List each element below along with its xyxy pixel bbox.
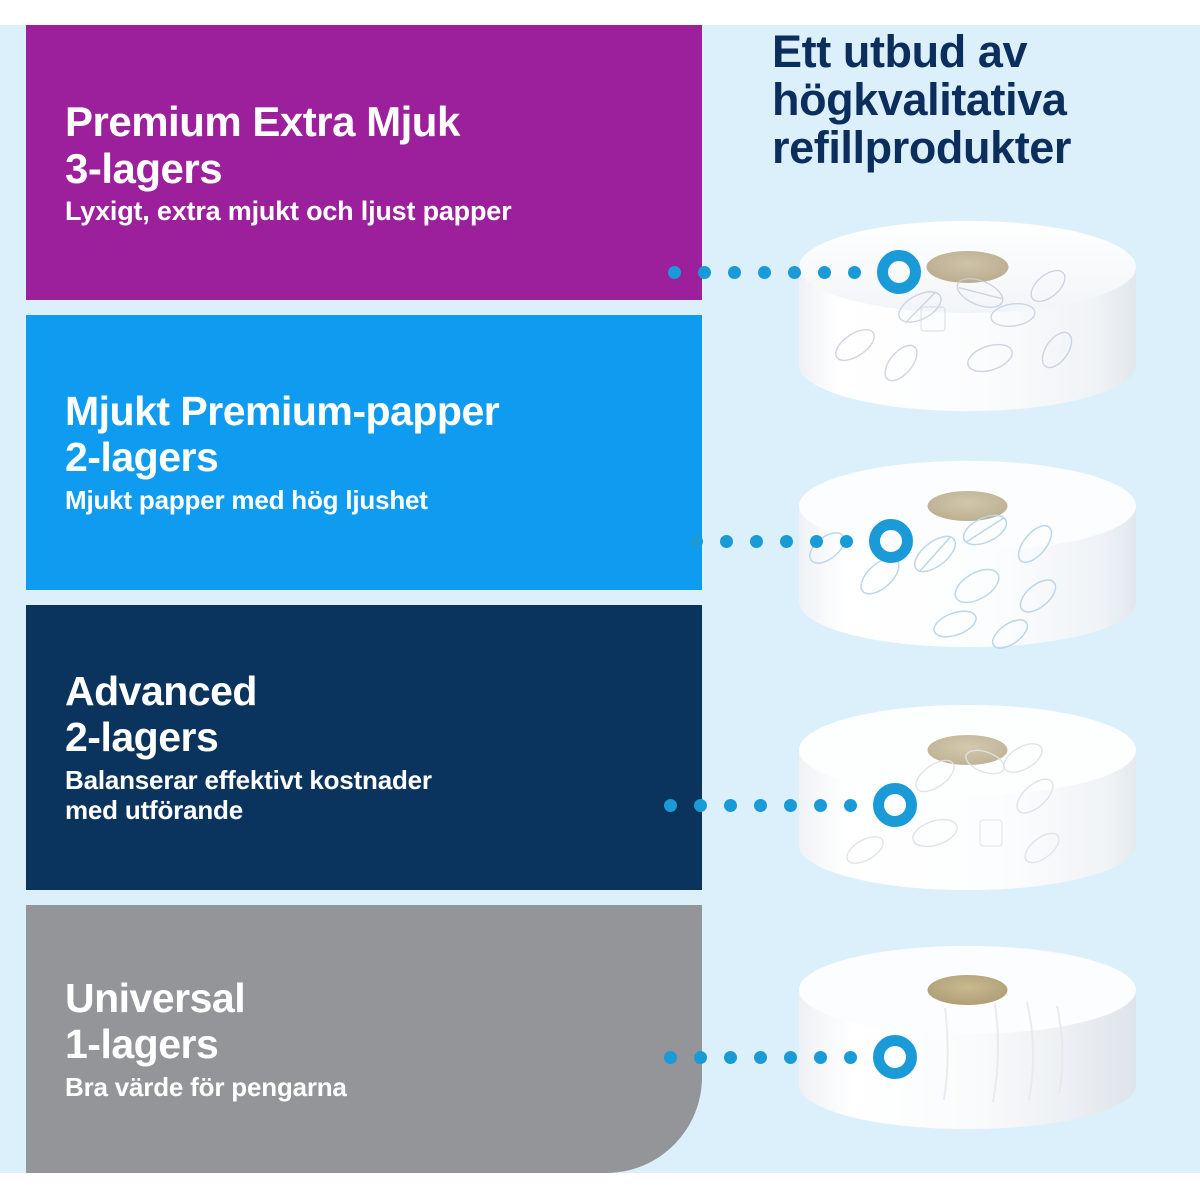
tier-subtitle: Bra värde för pengarna <box>65 1072 702 1103</box>
tier-title-line-2: 2-lagers <box>65 715 702 761</box>
connector-dot <box>754 1051 767 1064</box>
connector-dot <box>750 535 763 548</box>
connector-row-2 <box>690 518 913 564</box>
connector-dot <box>840 535 853 548</box>
connector-dot <box>668 266 681 279</box>
dotted-line-icon <box>690 535 853 548</box>
page-title-line-3: refillprodukter <box>772 124 1187 172</box>
tier-card-premium-extra-mjuk[interactable]: Premium Extra Mjuk 3-lagers Lyxigt, extr… <box>26 25 702 300</box>
connector-dot <box>848 266 861 279</box>
connector-row-3 <box>664 782 917 828</box>
tier-title: Premium Extra Mjuk 3-lagers <box>65 98 702 192</box>
tier-title-line-1: Mjukt Premium-papper <box>65 388 499 434</box>
tier-title-line-2: 2-lagers <box>65 435 702 481</box>
connector-dot <box>690 535 703 548</box>
dotted-line-icon <box>668 266 861 279</box>
connector-dot <box>818 266 831 279</box>
tier-card-advanced[interactable]: Advanced 2-lagers Balanserar effektivt k… <box>26 605 702 890</box>
page-title-line-1: Ett utbud av <box>772 28 1187 76</box>
tier-title-line-1: Universal <box>65 975 245 1021</box>
connector-dot <box>728 266 741 279</box>
connector-dot <box>780 535 793 548</box>
connector-dot <box>814 1051 827 1064</box>
page-title-line-2: högkvalitativa <box>772 76 1187 124</box>
connector-dot <box>724 799 737 812</box>
connector-dot <box>664 1051 677 1064</box>
tier-title: Advanced 2-lagers <box>65 669 702 761</box>
tier-title-line-2: 1-lagers <box>65 1022 702 1068</box>
connector-dot <box>694 1051 707 1064</box>
tier-subtitle-line-2: med utförande <box>65 795 702 826</box>
tier-subtitle: Balanserar effektivt kostnader med utför… <box>65 765 702 826</box>
connector-row-4 <box>664 1034 917 1080</box>
tier-card-universal[interactable]: Universal 1-lagers Bra värde för pengarn… <box>26 905 702 1173</box>
tier-card-mjukt-premium-papper[interactable]: Mjukt Premium-papper 2-lagers Mjukt papp… <box>26 315 702 590</box>
product-image-premium-extra-soft-3ply <box>795 215 1140 415</box>
connector-dot <box>814 799 827 812</box>
connector-ring-icon <box>873 1035 917 1079</box>
tier-title-line-1: Advanced <box>65 668 257 714</box>
dotted-line-icon <box>664 1051 857 1064</box>
connector-dot <box>664 799 677 812</box>
connector-dot <box>788 266 801 279</box>
tier-title: Universal 1-lagers <box>65 976 702 1068</box>
infographic-canvas: Ett utbud av högkvalitativa refillproduk… <box>0 0 1200 1200</box>
connector-ring-icon <box>869 519 913 563</box>
connector-dot <box>720 535 733 548</box>
connector-dot <box>694 799 707 812</box>
connector-row-1 <box>668 249 921 295</box>
tier-subtitle-line-1: Balanserar effektivt kostnader <box>65 765 702 796</box>
connector-dot <box>698 266 711 279</box>
connector-dot <box>724 1051 737 1064</box>
tier-subtitle: Mjukt papper med hög ljushet <box>65 485 702 516</box>
tier-title: Mjukt Premium-papper 2-lagers <box>65 389 702 481</box>
page-title: Ett utbud av högkvalitativa refillproduk… <box>772 28 1187 172</box>
tier-title-line-2: 3-lagers <box>65 145 702 192</box>
connector-ring-icon <box>873 783 917 827</box>
connector-dot <box>784 1051 797 1064</box>
connector-ring-icon <box>877 250 921 294</box>
connector-dot <box>758 266 771 279</box>
dotted-line-icon <box>664 799 857 812</box>
connector-dot <box>754 799 767 812</box>
tier-subtitle: Lyxigt, extra mjukt och ljust papper <box>65 196 702 228</box>
connector-dot <box>784 799 797 812</box>
connector-dot <box>844 799 857 812</box>
connector-dot <box>810 535 823 548</box>
connector-dot <box>844 1051 857 1064</box>
tier-title-line-1: Premium Extra Mjuk <box>65 98 460 145</box>
